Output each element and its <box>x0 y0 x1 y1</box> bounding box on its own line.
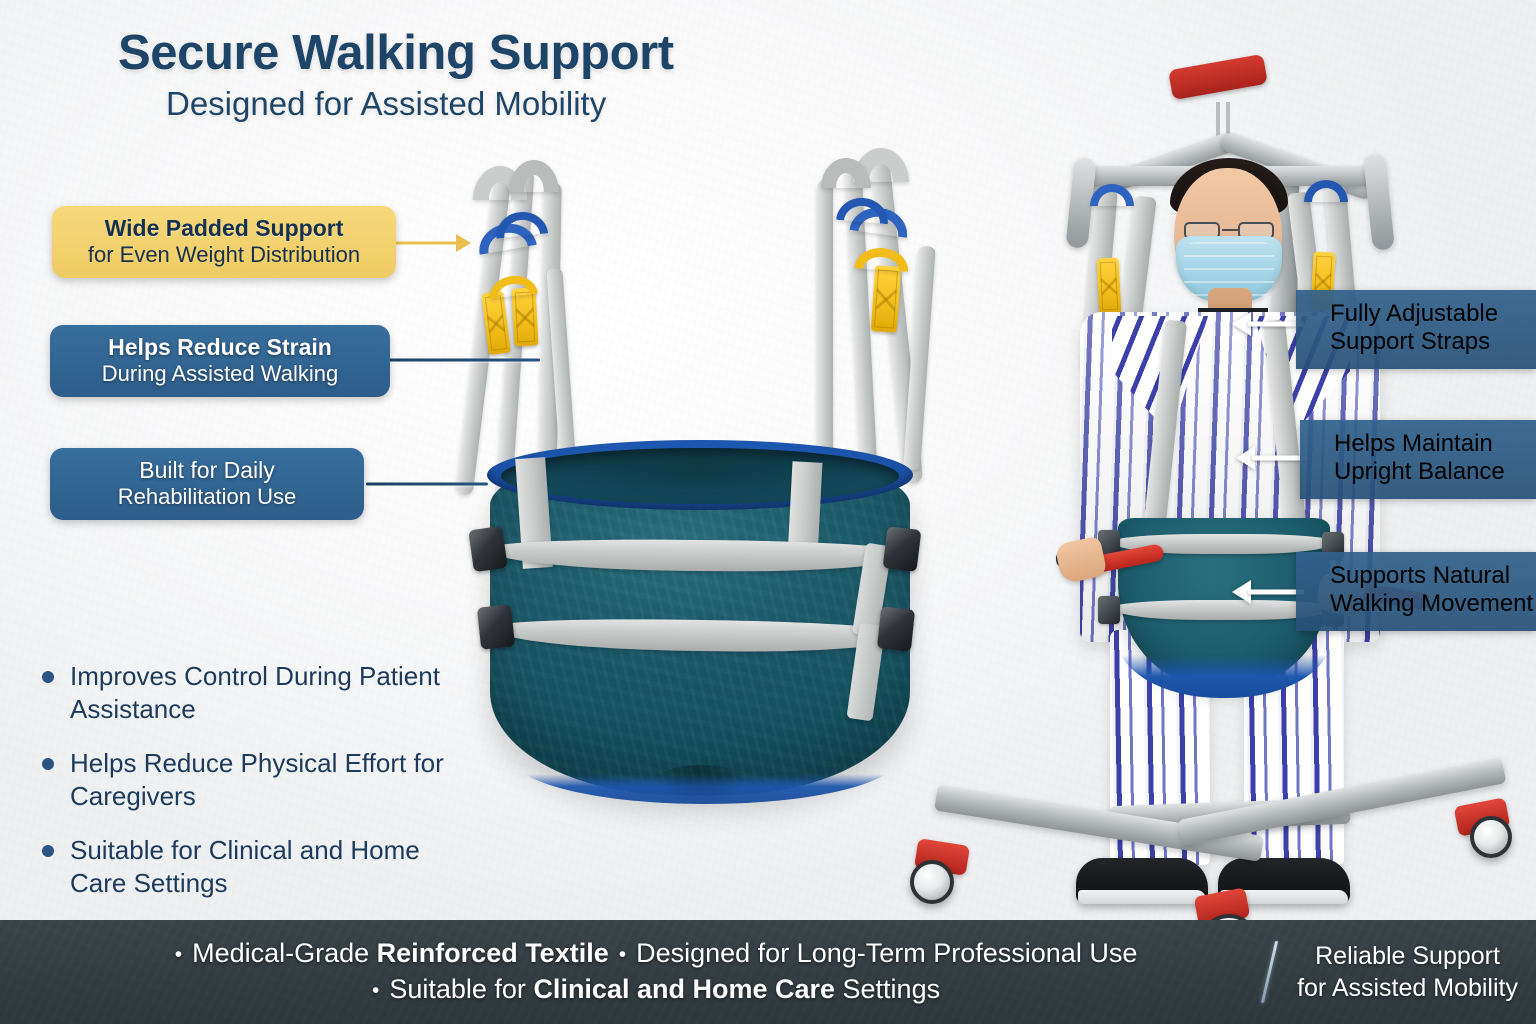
header: Secure Walking Support Designed for Assi… <box>118 28 838 124</box>
footer-line-2-pre: Suitable for <box>389 974 533 1004</box>
callout-helps-maintain-upright-balance[interactable]: Helps Maintain Upright Balance <box>1300 420 1536 499</box>
footer-line-2: •Suitable for Clinical and Home Care Set… <box>40 972 1262 1008</box>
footer-item-1-regular: Medical-Grade <box>192 938 377 968</box>
infographic-canvas: Secure Walking Support Designed for Assi… <box>0 0 1536 1024</box>
lift-base-frame <box>910 728 1470 940</box>
bullet-dot-icon <box>42 758 54 770</box>
list-item-label: Suitable for Clinical and Home Care Sett… <box>70 834 472 899</box>
footer-bullet-icon: • <box>372 977 379 1005</box>
callout-subtitle: Rehabilitation Use <box>68 484 346 510</box>
list-item-label: Helps Reduce Physical Effort for Caregiv… <box>70 747 472 812</box>
callout-title: Wide Padded Support <box>70 215 378 242</box>
callout-title: Fully Adjustable <box>1330 300 1520 328</box>
sling-strap <box>817 180 833 480</box>
footer-bar: •Medical-Grade Reinforced Textile•Design… <box>0 920 1536 1024</box>
footer-line-2-post: Settings <box>835 974 940 1004</box>
footer-tagline: Reliable Support for Assisted Mobility <box>1297 940 1536 1004</box>
lift-top-red-cap <box>1168 54 1268 100</box>
footer-bullet-icon: • <box>175 941 182 969</box>
footer-tagline-line-1: Reliable Support <box>1297 940 1518 972</box>
callout-title: Helps Reduce Strain <box>68 334 372 361</box>
footer-divider <box>1261 941 1278 1003</box>
footer-item-1-bold: Reinforced Textile <box>377 938 609 968</box>
benefits-list: Improves Control During Patient Assistan… <box>42 660 472 921</box>
sling-yellow-tab <box>511 287 538 346</box>
sling-strap-loop <box>509 160 559 192</box>
callout-title: Built for Daily <box>68 457 346 484</box>
footer-line-1: •Medical-Grade Reinforced Textile•Design… <box>40 936 1262 972</box>
lift-yellow-tab <box>1097 257 1122 314</box>
callout-supports-natural-walking-movement[interactable]: Supports Natural Walking Movement <box>1296 552 1536 631</box>
sling-buckle <box>877 606 915 651</box>
footer-item-2: Designed for Long-Term Professional Use <box>636 938 1137 968</box>
callout-fully-adjustable-support-straps[interactable]: Fully Adjustable Support Straps <box>1296 290 1536 369</box>
list-item: Improves Control During Patient Assistan… <box>42 660 472 725</box>
lift-caster-wheel <box>1470 816 1512 858</box>
sling-buckle <box>883 526 922 572</box>
footer-feature-text: •Medical-Grade Reinforced Textile•Design… <box>0 936 1262 1008</box>
callout-title: Helps Maintain <box>1334 430 1520 458</box>
callout-subtitle: Upright Balance <box>1334 458 1520 486</box>
bullet-dot-icon <box>42 845 54 857</box>
sling-buckle <box>468 526 508 572</box>
footer-line-2-bold: Clinical and Home Care <box>533 974 835 1004</box>
callout-subtitle: for Even Weight Distribution <box>70 242 378 268</box>
lift-yoke-right <box>1363 153 1395 251</box>
callout-wide-padded-support[interactable]: Wide Padded Support for Even Weight Dist… <box>52 206 396 278</box>
callout-built-for-daily-rehab[interactable]: Built for Daily Rehabilitation Use <box>50 448 364 520</box>
worn-sling-buckle <box>1098 596 1120 624</box>
lift-caster-wheel <box>910 860 954 904</box>
callout-helps-reduce-strain[interactable]: Helps Reduce Strain During Assisted Walk… <box>50 325 390 397</box>
callout-title: Supports Natural <box>1330 562 1520 590</box>
bullet-dot-icon <box>42 671 54 683</box>
list-item: Helps Reduce Physical Effort for Caregiv… <box>42 747 472 812</box>
sling-buckle <box>477 604 515 649</box>
callout-subtitle: During Assisted Walking <box>68 361 372 387</box>
footer-bullet-icon: • <box>619 941 626 969</box>
page-title: Secure Walking Support <box>118 28 838 80</box>
sling-bottom-fold <box>651 765 751 805</box>
footer-tagline-line-2: for Assisted Mobility <box>1297 972 1518 1004</box>
callout-subtitle: Support Straps <box>1330 328 1520 356</box>
list-item-label: Improves Control During Patient Assistan… <box>70 660 472 725</box>
sling-opening <box>501 448 899 504</box>
callout-subtitle: Walking Movement <box>1330 590 1520 618</box>
sling-yellow-tab <box>871 265 902 333</box>
page-subtitle: Designed for Assisted Mobility <box>166 84 838 124</box>
list-item: Suitable for Clinical and Home Care Sett… <box>42 834 472 899</box>
